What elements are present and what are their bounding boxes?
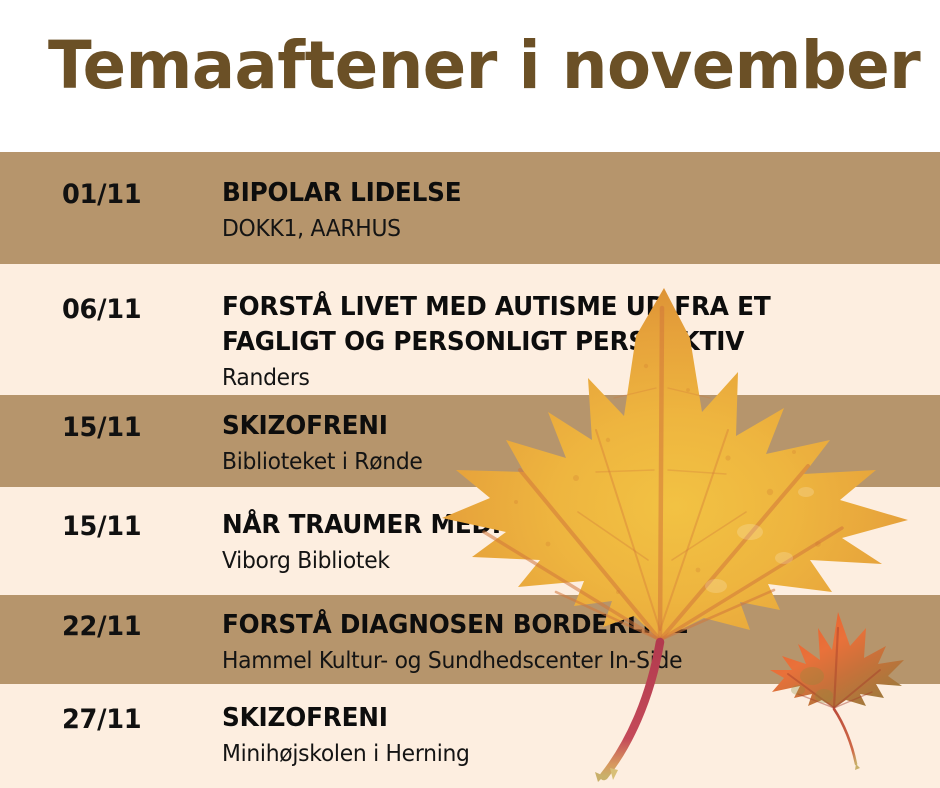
- event-details: SKIZOFRENI Minihøjskolen i Herning: [222, 701, 922, 769]
- event-date: 27/11: [62, 704, 141, 735]
- table-row: 22/11 FORSTÅ DIAGNOSEN BORDERLINE Hammel…: [0, 595, 940, 684]
- event-venue: Viborg Bibliotek: [222, 546, 887, 576]
- poster-canvas: 01/11 BIPOLAR LIDELSE DOKK1, AARHUS 06/1…: [0, 0, 940, 788]
- table-row: 15/11 SKIZOFRENI Biblioteket i Rønde: [0, 395, 940, 487]
- event-venue: Randers: [222, 363, 887, 393]
- event-list: 01/11 BIPOLAR LIDELSE DOKK1, AARHUS 06/1…: [0, 152, 940, 788]
- event-date: 15/11: [62, 511, 141, 542]
- event-date: 22/11: [62, 611, 141, 642]
- event-details: BIPOLAR LIDELSE DOKK1, AARHUS: [222, 176, 922, 244]
- event-details: SKIZOFRENI Biblioteket i Rønde: [222, 409, 922, 477]
- event-venue: Biblioteket i Rønde: [222, 447, 887, 477]
- table-row: 27/11 SKIZOFRENI Minihøjskolen i Herning: [0, 684, 940, 788]
- poster-header: Temaaftener i november: [0, 0, 940, 152]
- event-title: SKIZOFRENI: [222, 701, 887, 736]
- event-title: FORSTÅ LIVET MED AUTISME UD FRA ET FAGLI…: [222, 290, 887, 360]
- table-row: 06/11 FORSTÅ LIVET MED AUTISME UD FRA ET…: [0, 264, 940, 395]
- event-date: 01/11: [62, 179, 141, 210]
- event-venue: Hammel Kultur- og Sundhedscenter In-Side: [222, 646, 887, 676]
- page-title: Temaaftener i november: [48, 27, 920, 105]
- table-row: 01/11 BIPOLAR LIDELSE DOKK1, AARHUS: [0, 152, 940, 264]
- event-title: SKIZOFRENI: [222, 409, 887, 444]
- table-row: 15/11 NÅR TRAUMER MEDFØRER PTSD Viborg B…: [0, 487, 940, 595]
- event-details: FORSTÅ DIAGNOSEN BORDERLINE Hammel Kultu…: [222, 608, 922, 676]
- event-venue: Minihøjskolen i Herning: [222, 739, 887, 769]
- event-title: BIPOLAR LIDELSE: [222, 176, 887, 211]
- event-date: 06/11: [62, 294, 141, 325]
- event-venue: DOKK1, AARHUS: [222, 214, 887, 244]
- event-details: NÅR TRAUMER MEDFØRER PTSD Viborg Bibliot…: [222, 508, 922, 576]
- event-title: FORSTÅ DIAGNOSEN BORDERLINE: [222, 608, 887, 643]
- event-date: 15/11: [62, 412, 141, 443]
- event-details: FORSTÅ LIVET MED AUTISME UD FRA ET FAGLI…: [222, 290, 922, 393]
- event-title: NÅR TRAUMER MEDFØRER PTSD: [222, 508, 887, 543]
